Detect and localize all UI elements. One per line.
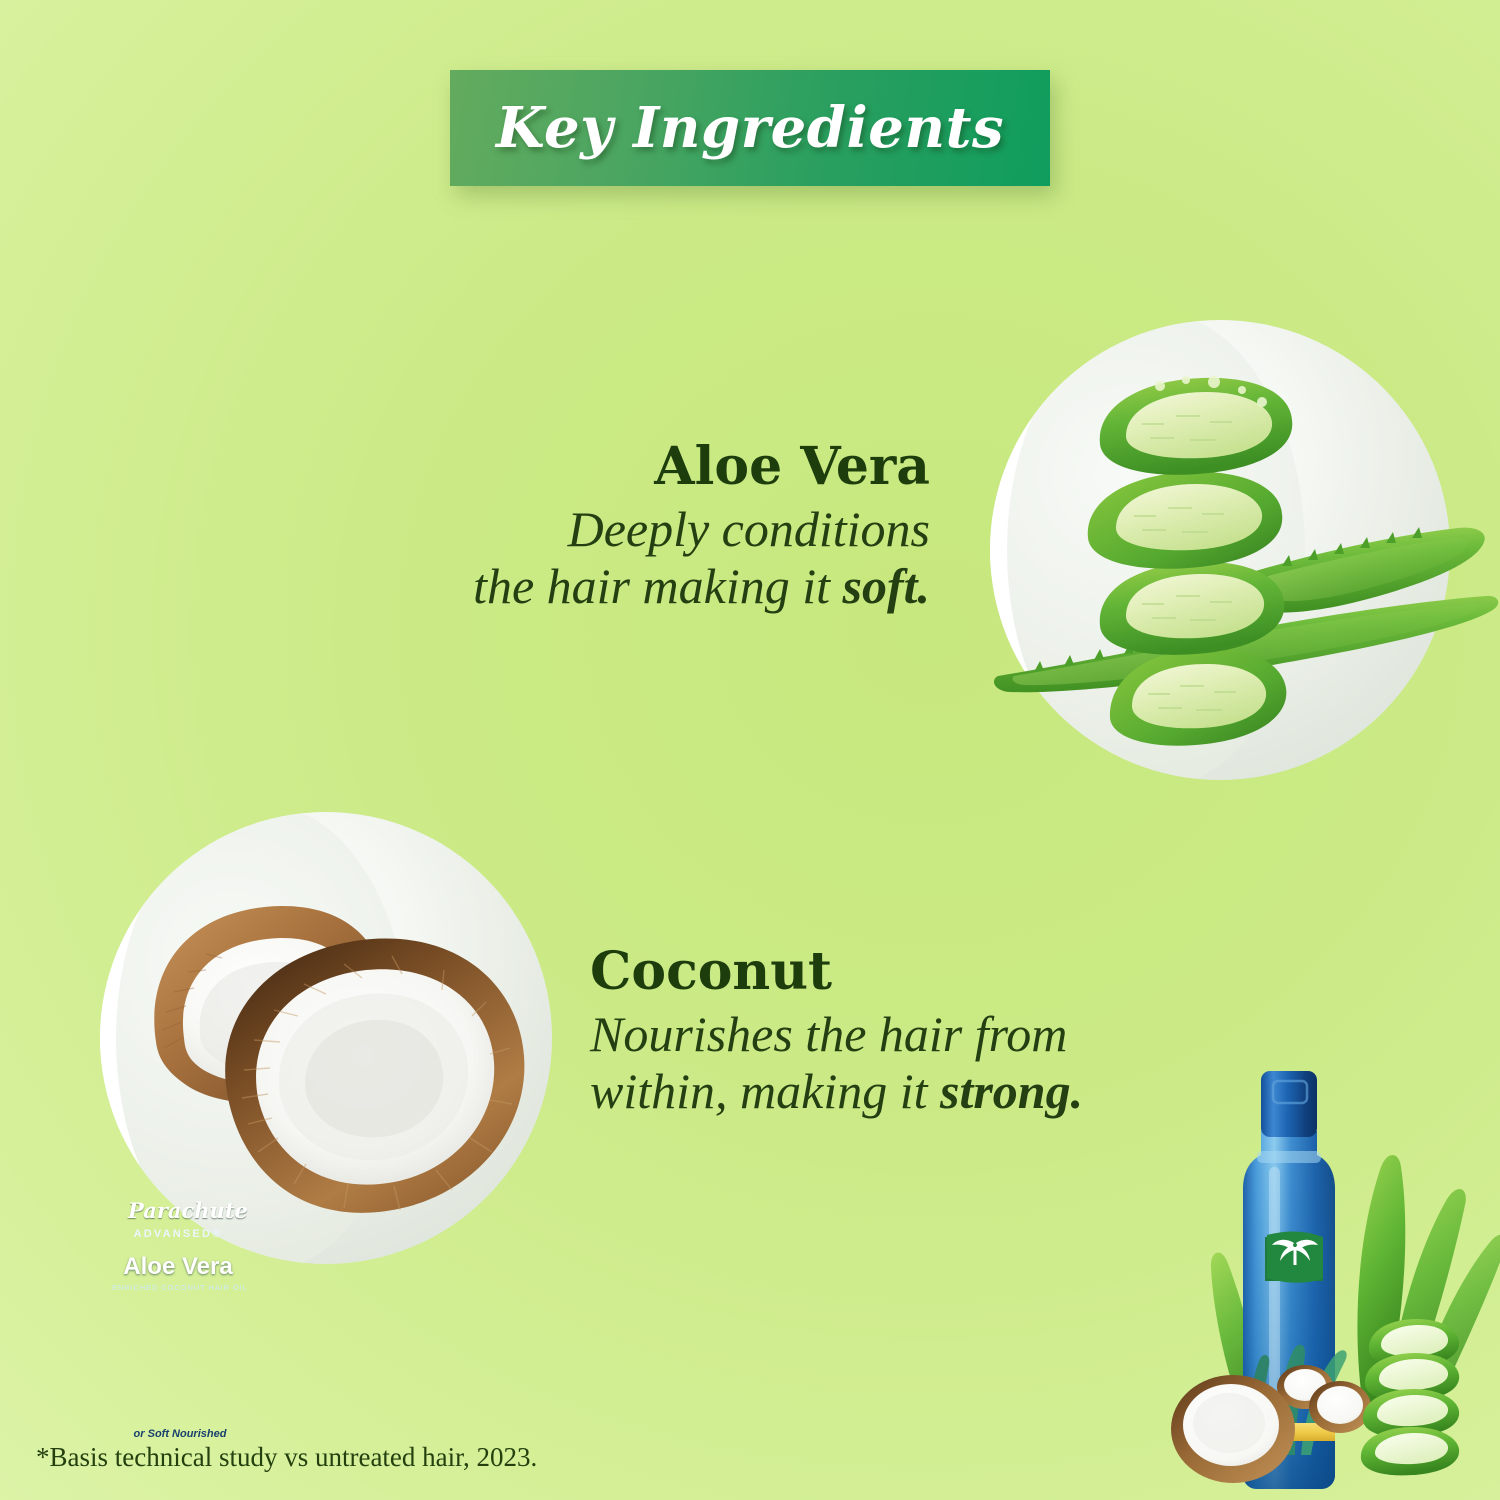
coconut-halves-illustration: [100, 812, 552, 1264]
aloe-desc-line-1: Deeply conditions: [568, 501, 930, 557]
parachute-logo-patch: [1265, 1231, 1323, 1282]
aloe-vera-heading: Aloe Vera: [310, 440, 930, 495]
coconut-half-large: [1171, 1375, 1295, 1483]
aloe-slices-illustration: [990, 320, 1500, 800]
aloe-vera-text-block: Aloe Vera Deeply conditions the hair mak…: [310, 440, 930, 615]
footnote-disclaimer: *Basis technical study vs untreated hair…: [36, 1442, 537, 1473]
bottle-descriptor-label: ENRICHED COCONUT HAIR OIL: [112, 1283, 244, 1292]
coconut-desc-line-1: Nourishes the hair from: [590, 1006, 1067, 1062]
aloe-slice-1: [1100, 376, 1293, 475]
aloe-slice-2: [1088, 472, 1283, 569]
key-ingredients-banner: Key Ingredients: [450, 70, 1050, 186]
page-title: Key Ingredients: [450, 70, 1050, 186]
parachute-bottle-illustration: [1155, 1055, 1500, 1500]
coconut-half-front: [225, 939, 524, 1213]
aloe-vera-image: [990, 320, 1460, 790]
aloe-desc-emphasis: soft.: [843, 558, 931, 614]
product-pack-shot: [1155, 1055, 1500, 1500]
infographic-poster: Key Ingredients: [0, 0, 1500, 1500]
aloe-desc-line-2: the hair making it: [473, 558, 842, 614]
aloe-vera-description: Deeply conditions the hair making it sof…: [310, 501, 930, 615]
coconut-desc-line-2: within, making it: [590, 1063, 940, 1119]
bottle-claim-band-label: or Soft Nourished: [110, 1428, 250, 1440]
coconut-image: [100, 812, 570, 1282]
coconut-piece-small-b: [1309, 1381, 1371, 1433]
coconut-heading: Coconut: [590, 945, 1270, 1000]
coconut-desc-emphasis: strong.: [940, 1063, 1083, 1119]
